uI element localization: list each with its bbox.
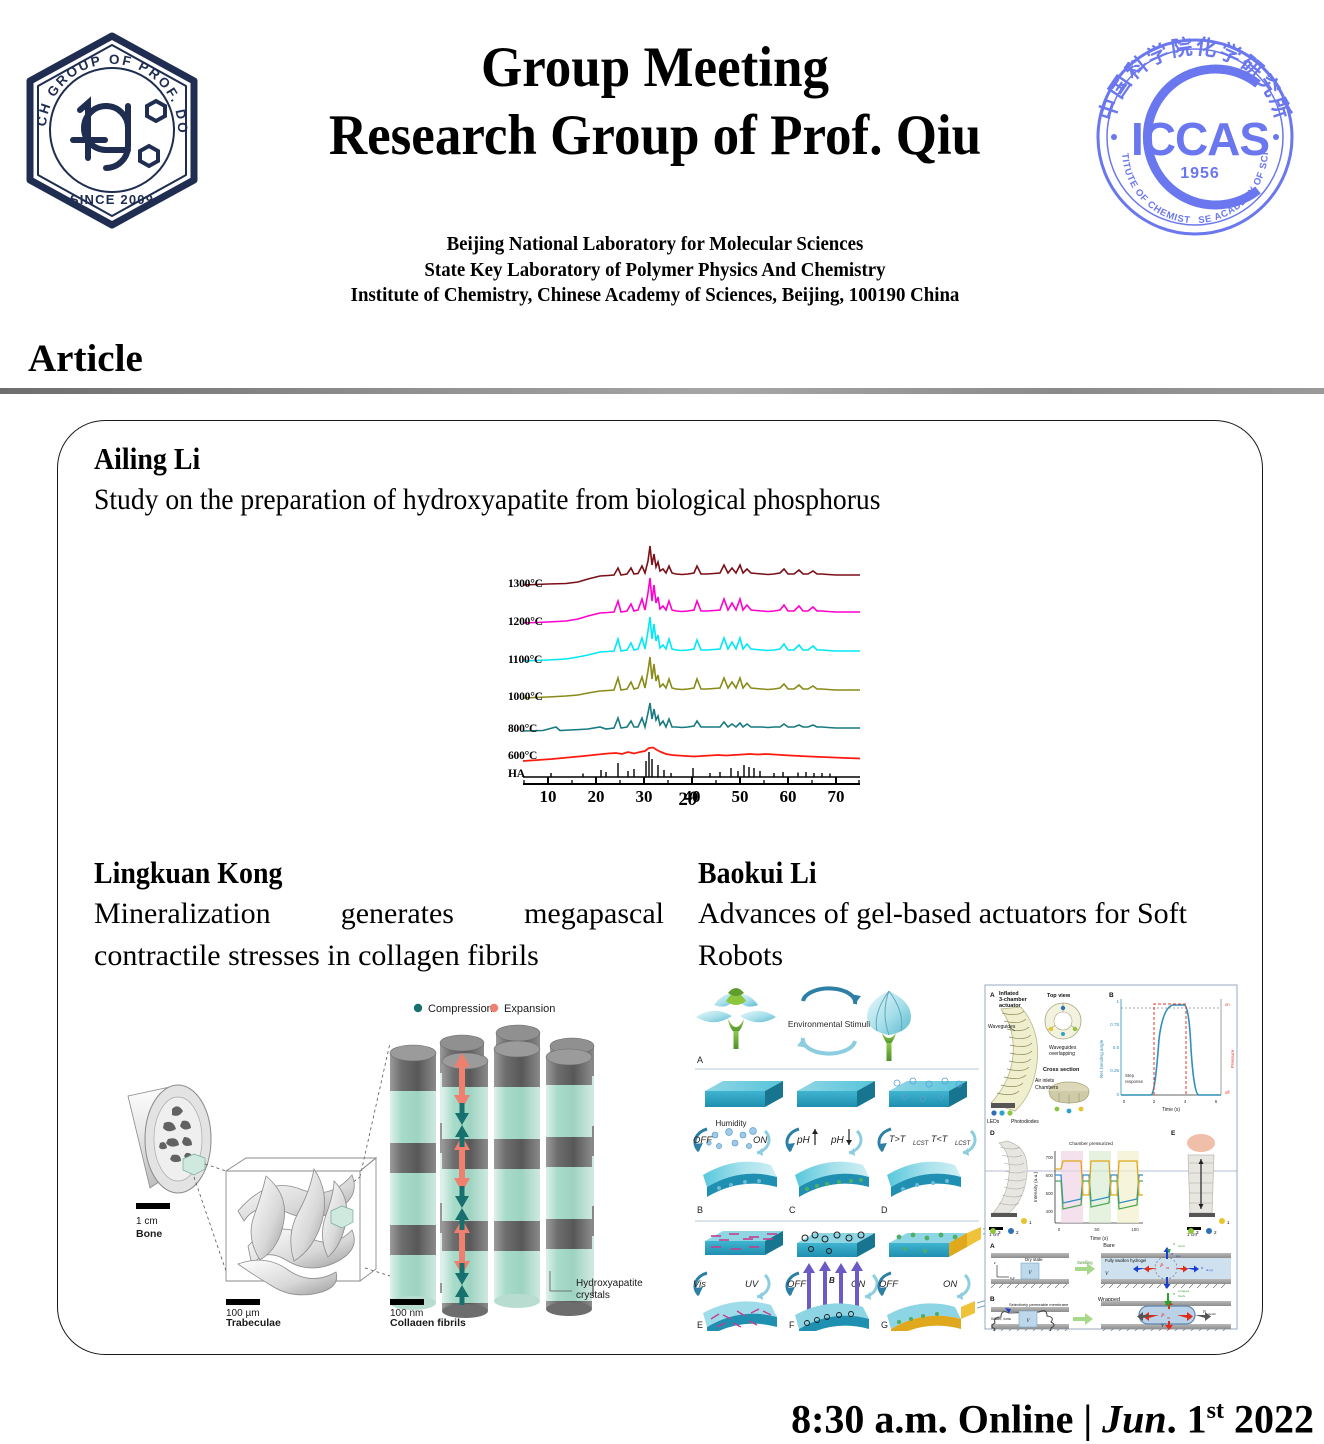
right-chart-B-ylabel: Rel. bending angle <box>1099 1039 1104 1078</box>
scalebar-label-collagen-caption: Collagen fibrils <box>390 1317 466 1326</box>
right-chart-B-xlabel: Time (s) <box>1162 1107 1180 1113</box>
xrd-trace-1200C <box>523 578 860 623</box>
gel-panel-B-top-label: Humidity <box>715 1119 746 1128</box>
gel-panel-label-F: F <box>789 1320 795 1330</box>
annotation-hydroxyapatite-line2: crystals <box>576 1290 610 1301</box>
xrd-x-axis-label: 2θ <box>678 789 697 811</box>
footer-time: 8:30 a.m. Online | <box>791 1396 1102 1441</box>
trabeculae-cube: 100 µm Trabeculae <box>226 1158 376 1326</box>
right-panel-label-D: D <box>990 1130 995 1137</box>
right-topview-label: Top view <box>1047 993 1071 999</box>
gel-panel-E-left-label: Vis <box>693 1279 706 1290</box>
gel-panel-label-A: A <box>697 1055 703 1065</box>
gel-panel-F-top-label: B <box>829 1276 835 1285</box>
xrd-xtick-50: 50 <box>732 787 749 807</box>
svg-text:50: 50 <box>1095 1227 1100 1232</box>
footer-ordinal: st <box>1207 1398 1224 1424</box>
gel-panel-E: Vis UV E <box>693 1231 783 1331</box>
right-airinlets-label: Air inlets <box>1035 1078 1055 1084</box>
xrd-chart-svg <box>488 521 888 816</box>
right-panel-label-A: A <box>990 992 995 999</box>
research-group-seal-logo: RESEARCH GROUP OF PROF. DONG QIU SINCE 2… <box>10 28 215 233</box>
gel-panel-label-G: G <box>881 1320 888 1330</box>
svg-text:LCST: LCST <box>913 1141 930 1147</box>
bone-figure-legend: Compression Expansion <box>414 1003 556 1015</box>
affiliation-line-1: Beijing National Laboratory for Molecula… <box>250 232 1060 258</box>
right-photodiodes-label: Photodiodes <box>1011 1119 1039 1125</box>
gel-panel-F-left-label: OFF <box>787 1279 807 1290</box>
entry-lingkuan-kong: Lingkuan Kong Mineralization generates m… <box>94 853 664 977</box>
scalebar-label-bone-value: 1 cm <box>136 1216 158 1227</box>
right-waveguides-label: Waveguides <box>988 1024 1016 1030</box>
right-waveguides-overlapping-label-l2: overlapping <box>1049 1051 1075 1057</box>
affiliation-line-3: Institute of Chemistry, Chinese Academy … <box>250 283 1060 309</box>
bone-collagen-figure: Compression Expansion 1 cm <box>98 981 668 1326</box>
xrd-xtick-60: 60 <box>780 787 797 807</box>
gel-panel-A: Environmental Stimuli A <box>696 988 911 1065</box>
svg-text:wrapped: wrapped <box>1178 1289 1189 1293</box>
svg-text:中国科学院化学研究所: 中国科学院化学研究所 <box>1095 34 1296 123</box>
footer-year: 2022 <box>1224 1396 1314 1441</box>
right-fully-swollen-label: Fully swollen hydrogel <box>1105 1258 1146 1263</box>
legend-label-compression: Compression <box>428 1003 493 1015</box>
gel-panel-G-right-label: ON <box>943 1279 957 1290</box>
xrd-trace-1300C <box>523 546 860 585</box>
xrd-trace-1000C <box>523 657 860 698</box>
xrd-series-label-600C: 600°C <box>508 750 537 762</box>
svg-text:block: block <box>1178 1244 1185 1248</box>
gel-panel-D-left-label: T>T <box>889 1134 907 1144</box>
scalebar-label-bone-caption: Bone <box>136 1228 162 1240</box>
entry-author-name: Lingkuan Kong <box>94 853 607 893</box>
right-panel-label-E: E <box>1171 1130 1176 1137</box>
xrd-series-label-800C: 800°C <box>508 723 537 735</box>
scalebar-label-trabeculae-caption: Trabeculae <box>226 1317 281 1326</box>
gel-panel-right: A Inflated 3-chamber actuator Wa <box>985 985 1237 1331</box>
xrd-xtick-70: 70 <box>828 787 845 807</box>
xrd-series-label-1000C: 1000°C <box>508 691 543 703</box>
right-chart-B-step-l1: Step <box>1125 1073 1135 1078</box>
iccas-year: 1956 <box>1180 165 1220 182</box>
gel-panel-D-right-label: T<T <box>931 1134 949 1144</box>
meeting-time-footer: 8:30 a.m. Online | Jun. 1st 2022 <box>791 1386 1314 1444</box>
right-chart-B-step-l2: response <box>1125 1079 1144 1084</box>
right-bottom-label-A: A <box>990 1243 995 1250</box>
gel-panel-E-right-label: UV <box>745 1279 760 1290</box>
xrd-xtick-30: 30 <box>636 787 653 807</box>
gel-panel-C-right-label: pH <box>830 1135 845 1146</box>
entry-author-name: Ailing Li <box>94 439 1111 479</box>
gel-panel-G: OFF ON G <box>879 1226 993 1331</box>
svg-text:2: 2 <box>1016 1230 1019 1235</box>
xrd-series-label-1100C: 1100°C <box>508 654 542 666</box>
collagen-fibril-bundle: Hydroxyapatite crystals 100 nm Collagen … <box>390 1025 643 1326</box>
gel-panel-label-B: B <box>697 1205 703 1215</box>
bone-cylinder: 1 cm Bone <box>128 1085 211 1240</box>
xrd-xtick-20: 20 <box>588 787 605 807</box>
entry-baokui-li: Baokui Li Advances of gel-based actuator… <box>698 853 1243 977</box>
entry-ailing-li: Ailing Li Study on the preparation of hy… <box>94 439 1224 521</box>
svg-text:z: z <box>993 1260 996 1265</box>
svg-text:400: 400 <box>1046 1209 1054 1214</box>
right-dry-state-label: Dry state <box>1025 1257 1043 1262</box>
right-water-ions-label: Water, ions <box>991 1316 1011 1321</box>
svg-text:P: P <box>1159 1263 1164 1269</box>
svg-text:700: 700 <box>1046 1155 1054 1160</box>
entry-paper-title: Advances of gel-based actuators for Soft… <box>698 893 1243 977</box>
svg-text:0.25: 0.25 <box>1110 1068 1119 1073</box>
xrd-trace-800C <box>523 703 860 731</box>
right-chart-B-on: on <box>1225 1002 1230 1007</box>
svg-text:600: 600 <box>1046 1173 1054 1178</box>
xrd-x-axis <box>523 777 860 784</box>
entry-paper-title: Study on the preparation of hydroxyapati… <box>94 479 1134 521</box>
gel-panel-B: Humidity OFF ON <box>693 1081 783 1215</box>
footer-day: . 1 <box>1167 1396 1207 1441</box>
xrd-series-label-HA: HA <box>508 768 525 780</box>
right-membrane-label: Selectively permeable membrane <box>1009 1302 1069 1307</box>
svg-text:100: 100 <box>1131 1227 1139 1232</box>
svg-text:500: 500 <box>1046 1191 1054 1196</box>
meeting-title-line2: Research Group of Prof. Qiu <box>246 102 1064 170</box>
xrd-series-label-1300C: 1300°C <box>508 578 543 590</box>
svg-text:2: 2 <box>1214 1230 1217 1235</box>
gel-panel-label-D: D <box>881 1205 888 1215</box>
gel-panel-B-right-label: ON <box>753 1135 767 1146</box>
seal-since-text: SINCE 2009 <box>70 192 154 207</box>
gel-panel-G-left-label: OFF <box>879 1279 899 1290</box>
meeting-title-block: Group Meeting Research Group of Prof. Qi… <box>215 34 1095 170</box>
svg-text:block: block <box>1178 1294 1185 1298</box>
gel-panel-label-C: C <box>789 1205 796 1215</box>
svg-text:P: P <box>1160 1313 1165 1319</box>
svg-text:3: 3 <box>1196 1230 1199 1235</box>
right-crosssection-label: Cross section <box>1043 1067 1080 1073</box>
iccas-seal-logo: 中国科学院化学研究所 INSTITUTE OF CHEMISTRY CHINES… <box>1090 32 1300 242</box>
section-divider <box>0 388 1324 394</box>
article-card: Ailing Li Study on the preparation of hy… <box>57 420 1263 1355</box>
gel-panel-label-E: E <box>697 1320 703 1330</box>
right-chambers-label: Chambers <box>1035 1085 1059 1091</box>
affiliation-block: Beijing National Laboratory for Molecula… <box>215 232 1095 309</box>
footer-month: Jun <box>1102 1396 1167 1441</box>
right-swelling-label: Swelling <box>1077 1260 1093 1265</box>
svg-text:0.5: 0.5 <box>1113 1045 1120 1050</box>
right-chart-D-annotation: Chamber pressurized <box>1069 1141 1113 1146</box>
xrd-trace-1100C <box>523 617 860 661</box>
svg-text:3: 3 <box>998 1230 1001 1235</box>
gel-panel-left: Environmental Stimuli A Humidity <box>693 988 993 1331</box>
right-chart-D-ylabel: Intensity (a.u.) <box>1033 1171 1039 1202</box>
meeting-title-line1: Group Meeting <box>246 34 1064 102</box>
page-header: RESEARCH GROUP OF PROF. DONG QIU SINCE 2… <box>0 0 1324 330</box>
right-bare-label: Bare <box>1103 1243 1115 1249</box>
entry-paper-title: Mineralization generates megapascal cont… <box>94 893 664 977</box>
right-chart-B-y2label: Pressure <box>1230 1049 1235 1068</box>
right-panel-label-B: B <box>1109 992 1114 999</box>
annotation-hydroxyapatite-line1: Hydroxyapatite <box>576 1278 643 1289</box>
affiliation-line-2: State Key Laboratory of Polymer Physics … <box>250 258 1060 284</box>
right-bottom-label-B: B <box>990 1296 995 1303</box>
iccas-acronym: ICCAS <box>1131 113 1269 165</box>
gel-panel-D: T>T LCST T<T LCST D <box>879 1078 975 1215</box>
legend-label-expansion: Expansion <box>504 1003 555 1015</box>
entry-author-name: Baokui Li <box>698 853 1189 893</box>
gel-panel-C-left-label: pH <box>796 1135 811 1146</box>
gel-panel-B-left-label: OFF <box>693 1135 713 1146</box>
xrd-traces <box>523 546 860 761</box>
xrd-trace-600C <box>523 748 860 762</box>
gel-stimuli-label: Environmental Stimuli <box>788 1019 870 1029</box>
svg-text:1: 1 <box>1227 1220 1230 1225</box>
svg-text:1: 1 <box>1029 1220 1032 1225</box>
svg-text:memb: memb <box>1208 1312 1216 1316</box>
gel-panel-C: pH pH C <box>787 1081 875 1215</box>
right-chart-D-xlabel: Time (s) <box>1090 1236 1108 1242</box>
svg-text:P: P <box>1202 1309 1206 1314</box>
section-heading: Article <box>28 336 143 382</box>
xrd-xtick-10: 10 <box>540 787 557 807</box>
xrd-chart: 1300°C 1200°C 1100°C 1000°C 800°C 600°C … <box>488 521 888 816</box>
iccas-chinese-ring-text: 中国科学院化学研究所 <box>1095 34 1296 123</box>
gel-actuator-figure: Environmental Stimuli A Humidity <box>691 983 1239 1331</box>
xrd-series-label-1200C: 1200°C <box>508 616 543 628</box>
svg-text:0.75: 0.75 <box>1110 1022 1119 1027</box>
right-leds-label: LEDs <box>987 1119 1000 1125</box>
gel-panel-F: OFF ON B F <box>787 1232 877 1331</box>
svg-text:LCST: LCST <box>955 1141 972 1147</box>
